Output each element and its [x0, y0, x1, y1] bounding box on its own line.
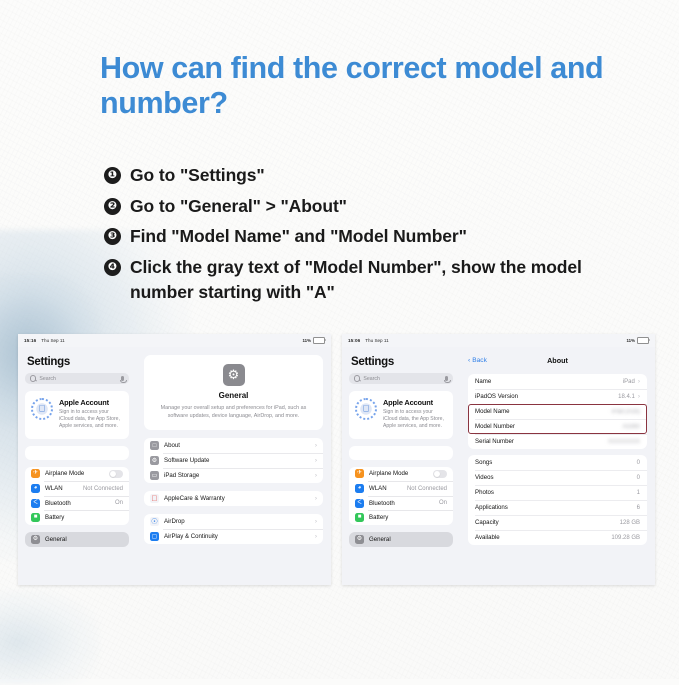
gear-icon: ⚙ [223, 364, 245, 386]
background-wash-bottom [0, 590, 100, 685]
about-row-name[interactable]: Name iPad › [468, 374, 647, 389]
placeholder-card [349, 446, 453, 460]
settings-sidebar: Settings Search  Apple Account Sign in … [18, 347, 136, 585]
software-update-icon: ⚙ [150, 456, 159, 465]
about-row-value: 6 [637, 505, 640, 511]
airplane-mode-toggle[interactable] [433, 470, 447, 478]
chevron-right-icon: › [315, 457, 317, 464]
about-icon: □ [150, 441, 159, 450]
sidebar-item-general[interactable]: ⚙ General [25, 532, 129, 547]
menu-item-software-update[interactable]: ⚙ Software Update › [144, 453, 323, 468]
about-row-label: Name [475, 378, 491, 385]
search-placeholder: Search [363, 376, 379, 382]
status-bar: 15:16 Thu Sep 11 11% [18, 334, 331, 347]
about-row-value: 0 [637, 460, 640, 466]
status-time: 15:16 [24, 338, 36, 343]
about-group-identity: Name iPad › iPadOS Version 18.4.1 › Mode… [468, 374, 647, 449]
general-group-3: ☉ AirDrop › ▢ AirPlay & Continuity › [144, 514, 323, 544]
sidebar-item-general-inner: ⚙ General [25, 532, 129, 547]
step-text-1: Go to "Settings" [130, 163, 265, 188]
about-row-applications: Applications 6 [468, 500, 647, 515]
about-row-available: Available 109.28 GB [468, 530, 647, 545]
step-number-3: ❸ [104, 228, 121, 245]
battery-percent: 11% [302, 338, 311, 343]
menu-item-airdrop[interactable]: ☉ AirDrop › [144, 514, 323, 529]
chevron-right-icon: › [315, 442, 317, 449]
sidebar-item-label: Airplane Mode [45, 470, 84, 477]
general-detail-pane: ⚙ General Manage your overall setup and … [136, 347, 331, 585]
about-row-label: Applications [475, 504, 508, 511]
airplane-mode-toggle[interactable] [109, 470, 123, 478]
sidebar-item-label: Battery [45, 514, 64, 521]
sidebar-item-label: General [369, 536, 391, 543]
battery-icon: ■ [355, 513, 364, 522]
settings-sidebar: Settings Search  Apple Account Sign in … [342, 347, 460, 585]
sidebar-title: Settings [27, 356, 129, 368]
about-row-photos: Photos 1 [468, 485, 647, 500]
about-row-label: Available [475, 534, 500, 541]
about-row-songs: Songs 0 [468, 455, 647, 470]
about-row-model-number[interactable]: Model Number A3360 [468, 419, 647, 434]
chevron-right-icon: › [315, 495, 317, 502]
list-item: ❹ Click the gray text of "Model Number",… [104, 255, 644, 305]
sidebar-item-battery[interactable]: ■ Battery [25, 510, 129, 525]
about-row-value: 1 [637, 490, 640, 496]
about-row-label: Model Name [475, 408, 510, 415]
battery-icon [637, 337, 649, 344]
sidebar-item-value: On [439, 500, 447, 506]
bluetooth-icon: ᐸ [31, 499, 40, 508]
menu-item-airplay-continuity[interactable]: ▢ AirPlay & Continuity › [144, 529, 323, 544]
step-text-3: Find "Model Name" and "Model Number" [130, 224, 467, 249]
search-icon [30, 375, 36, 381]
status-date: Thu Sep 11 [365, 338, 388, 343]
list-item: ❷ Go to "General" > "About" [104, 194, 644, 219]
apple-account-card[interactable]:  Apple Account Sign in to access your i… [25, 391, 129, 439]
menu-item-label: About [164, 442, 180, 449]
apple-icon:  [150, 494, 159, 503]
sidebar-item-bluetooth[interactable]: ᐸ Bluetooth On [349, 496, 453, 511]
about-row-value: A3360 [623, 424, 640, 430]
about-row-label: Photos [475, 489, 494, 496]
status-right: 11% [302, 337, 325, 344]
general-title: General [153, 391, 314, 400]
about-row-value: iPad (A16) [612, 409, 640, 415]
bluetooth-icon: ᐸ [355, 499, 364, 508]
step-number-1: ❶ [104, 167, 121, 184]
sidebar-item-general-inner: ⚙ General [349, 532, 453, 547]
sidebar-item-label: WLAN [45, 485, 63, 492]
sidebar-item-value: On [115, 500, 123, 506]
menu-item-label: AirPlay & Continuity [164, 533, 218, 540]
placeholder-card [25, 446, 129, 460]
about-row-model-name[interactable]: Model Name iPad (A16) [468, 404, 647, 419]
battery-percent: 11% [626, 338, 635, 343]
about-row-label: Serial Number [475, 438, 514, 445]
airplane-icon: ✈ [31, 469, 40, 478]
about-row-value: XXXXXXXX [608, 439, 640, 445]
general-group-2:  AppleCare & Warranty › [144, 491, 323, 506]
sidebar-item-general[interactable]: ⚙ General [349, 532, 453, 547]
search-input[interactable]: Search [25, 373, 129, 384]
storage-icon: ▭ [150, 471, 159, 480]
back-button[interactable]: ‹ Back [468, 357, 487, 364]
apple-logo-icon:  [31, 398, 53, 420]
menu-item-label: Software Update [164, 457, 209, 464]
sidebar-item-wlan[interactable]: ◕ WLAN Not Connected [25, 481, 129, 496]
device-screenshot-left: 15:16 Thu Sep 11 11% Settings Search  A… [18, 334, 331, 585]
battery-icon: ■ [31, 513, 40, 522]
about-header: ‹ Back About [468, 353, 647, 368]
menu-item-applecare-warranty[interactable]:  AppleCare & Warranty › [144, 491, 323, 506]
apple-account-card[interactable]:  Apple Account Sign in to access your i… [349, 391, 453, 439]
about-row-videos: Videos 0 [468, 470, 647, 485]
status-right: 11% [626, 337, 649, 344]
sidebar-item-value: Not Connected [83, 486, 123, 492]
apple-account-subtitle: Sign in to access your iCloud data, the … [59, 409, 122, 431]
about-row-label: iPadOS Version [475, 393, 518, 400]
menu-item-label: AirDrop [164, 518, 185, 525]
about-row-serial-number[interactable]: Serial Number XXXXXXXX [468, 434, 647, 449]
about-row-capacity: Capacity 128 GB [468, 515, 647, 530]
about-title: About [460, 356, 655, 365]
step-text-2: Go to "General" > "About" [130, 194, 347, 219]
sidebar-item-battery[interactable]: ■ Battery [349, 510, 453, 525]
sidebar-item-label: Bluetooth [369, 500, 395, 507]
search-icon [354, 375, 360, 381]
sidebar-item-label: Battery [369, 514, 388, 521]
list-item: ❶ Go to "Settings" [104, 163, 644, 188]
sidebar-item-wlan[interactable]: ◕ WLAN Not Connected [349, 481, 453, 496]
about-row-value: 0 [637, 475, 640, 481]
menu-item-ipad-storage[interactable]: ▭ iPad Storage › [144, 468, 323, 483]
wifi-icon: ◕ [355, 484, 364, 493]
about-row-value: 128 GB [620, 520, 640, 526]
airplay-icon: ▢ [150, 532, 159, 541]
sidebar-item-label: General [45, 536, 67, 543]
sidebar-item-value: Not Connected [407, 486, 447, 492]
about-row-label: Capacity [475, 519, 499, 526]
about-row-value: 18.4.1 [618, 394, 635, 400]
chevron-right-icon: › [638, 378, 640, 385]
chevron-right-icon: › [315, 533, 317, 540]
apple-logo-icon:  [355, 398, 377, 420]
list-item: ❸ Find "Model Name" and "Model Number" [104, 224, 644, 249]
chevron-right-icon: › [315, 472, 317, 479]
sidebar-item-label: Bluetooth [45, 500, 71, 507]
sidebar-item-airplane-mode[interactable]: ✈ Airplane Mode [349, 467, 453, 482]
sidebar-group-connectivity: ✈ Airplane Mode ◕ WLAN Not Connected ᐸ B… [349, 467, 453, 525]
gear-icon: ⚙ [31, 535, 40, 544]
chevron-right-icon: › [315, 518, 317, 525]
menu-item-label: AppleCare & Warranty [164, 495, 225, 502]
about-row-value: 109.28 GB [611, 535, 640, 541]
about-row-ipados-version[interactable]: iPadOS Version 18.4.1 › [468, 389, 647, 404]
steps-list: ❶ Go to "Settings" ❷ Go to "General" > "… [104, 163, 644, 310]
page-title: How can find the correct model and numbe… [100, 51, 620, 121]
sidebar-title: Settings [351, 356, 453, 368]
gear-icon: ⚙ [355, 535, 364, 544]
back-button-label: Back [472, 357, 487, 364]
menu-item-label: iPad Storage [164, 472, 199, 479]
battery-icon [313, 337, 325, 344]
about-row-label: Songs [475, 459, 492, 466]
chevron-right-icon: › [638, 393, 640, 400]
apple-account-title: Apple Account [59, 398, 122, 407]
wifi-icon: ◕ [31, 484, 40, 493]
apple-account-subtitle: Sign in to access your iCloud data, the … [383, 409, 446, 431]
about-group-storage: Songs 0 Videos 0 Photos 1 Applications 6… [468, 455, 647, 545]
airdrop-icon: ☉ [150, 517, 159, 526]
step-number-4: ❹ [104, 259, 121, 276]
step-text-4: Click the gray text of "Model Number", s… [130, 255, 644, 305]
microphone-icon[interactable] [445, 376, 448, 381]
sidebar-item-airplane-mode[interactable]: ✈ Airplane Mode [25, 467, 129, 482]
general-header-card: ⚙ General Manage your overall setup and … [144, 355, 323, 430]
microphone-icon[interactable] [121, 376, 124, 381]
apple-account-title: Apple Account [383, 398, 446, 407]
sidebar-item-label: WLAN [369, 485, 387, 492]
sidebar-item-bluetooth[interactable]: ᐸ Bluetooth On [25, 496, 129, 511]
chevron-left-icon: ‹ [468, 357, 470, 364]
general-description: Manage your overall setup and preference… [153, 404, 314, 420]
general-group-1: □ About › ⚙ Software Update › ▭ iPad Sto… [144, 438, 323, 483]
status-date: Thu Sep 11 [41, 338, 64, 343]
menu-item-about[interactable]: □ About › [144, 438, 323, 453]
about-row-label: Videos [475, 474, 494, 481]
device-screenshot-right: 15:06 Thu Sep 11 11% Settings Search  A… [342, 334, 655, 585]
about-row-value: iPad [623, 379, 635, 385]
sidebar-group-connectivity: ✈ Airplane Mode ◕ WLAN Not Connected ᐸ B… [25, 467, 129, 525]
search-placeholder: Search [39, 376, 55, 382]
airplane-icon: ✈ [355, 469, 364, 478]
about-row-label: Model Number [475, 423, 515, 430]
about-detail-pane: ‹ Back About Name iPad › iPadOS Version … [460, 347, 655, 585]
status-bar: 15:06 Thu Sep 11 11% [342, 334, 655, 347]
step-number-2: ❷ [104, 198, 121, 215]
status-time: 15:06 [348, 338, 360, 343]
search-input[interactable]: Search [349, 373, 453, 384]
sidebar-item-label: Airplane Mode [369, 470, 408, 477]
